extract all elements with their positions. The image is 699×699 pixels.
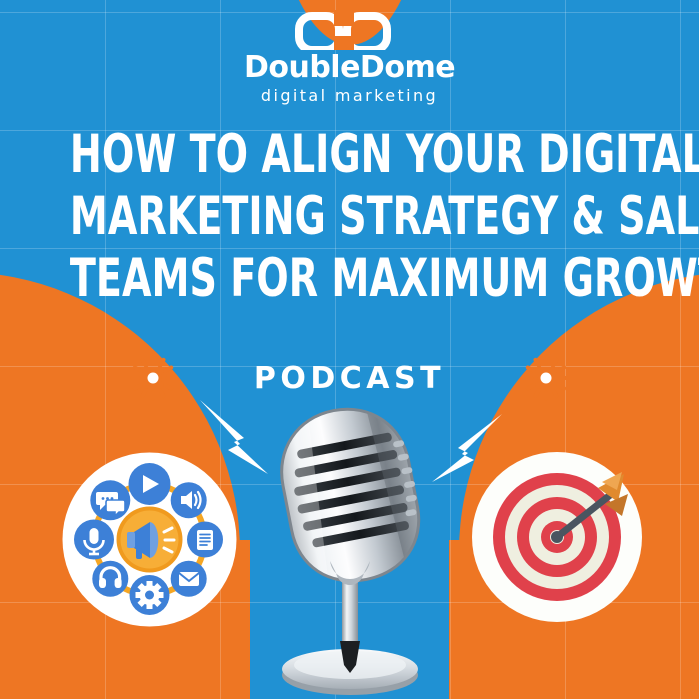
- retro-microphone-icon: [264, 403, 436, 699]
- brand-tagline: digital marketing: [0, 86, 699, 105]
- podcast-label: PODCAST: [254, 361, 445, 396]
- brand-logo: DoubleDome digital marketing: [0, 6, 699, 105]
- brand-name: DoubleDome: [0, 52, 699, 84]
- ring-icon-document: [187, 522, 223, 558]
- headline-title: HOW TO ALIGN YOUR DIGITAL MARKETING STRA…: [70, 124, 629, 310]
- digital-marketing-icon-cluster: [62, 452, 237, 627]
- ring-icon-volume-speaker: [171, 482, 207, 518]
- ring-icon-headphones: [92, 561, 128, 597]
- headline-line-2: MARKETING STRATEGY & SALES: [70, 186, 629, 248]
- ring-icon-chat-bubbles: [90, 480, 130, 520]
- headline-line-1: HOW TO ALIGN YOUR DIGITAL: [70, 124, 629, 186]
- podcast-promo-poster: DoubleDome digital marketing HOW TO ALIG…: [0, 0, 699, 699]
- sunburst-icon-right: [523, 355, 569, 401]
- target-with-arrow-icon: [472, 452, 642, 622]
- headline-line-3: TEAMS FOR MAXIMUM GROWTH: [70, 248, 629, 310]
- podcast-label-row: PODCAST: [0, 355, 699, 401]
- ring-icon-envelope: [171, 561, 207, 597]
- ring-icon-microphone: [74, 520, 114, 560]
- doubledome-infinity-logo-icon: [290, 6, 410, 50]
- ring-icon-gear: [130, 575, 170, 615]
- sunburst-icon-left: [130, 355, 176, 401]
- ring-icon-play: [129, 463, 171, 505]
